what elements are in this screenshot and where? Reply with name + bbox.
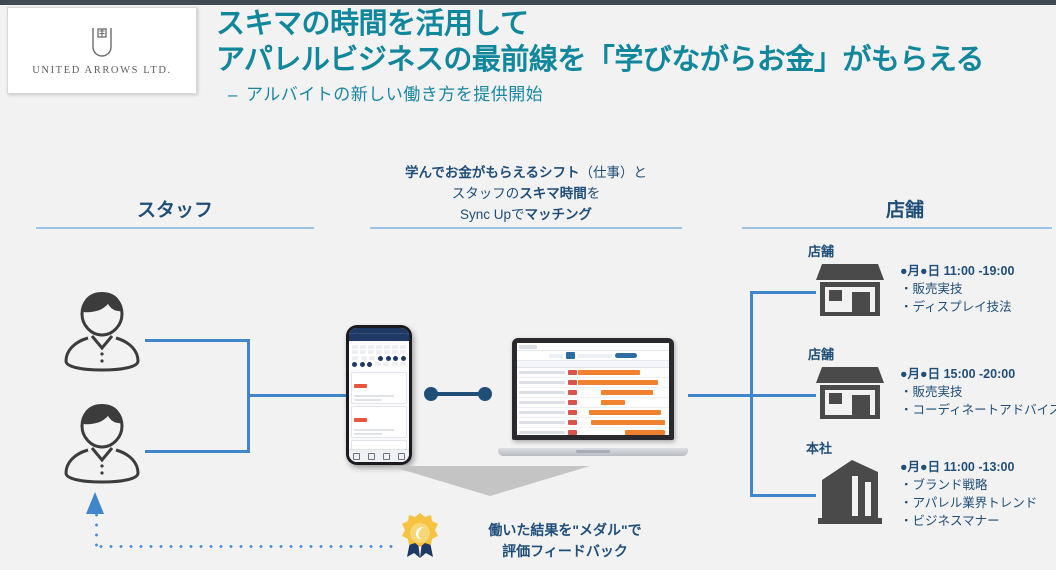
profile-icon[interactable] — [398, 453, 405, 460]
store-time-1: ●月●日 11:00 -19:00 — [900, 262, 1014, 280]
column-header-store: 店舗 — [790, 195, 1020, 222]
calendar-week-row — [352, 356, 406, 361]
schedule-header-row — [517, 360, 669, 368]
store-task: ・ディスプレイ技法 — [900, 298, 1014, 316]
phone-calendar — [349, 341, 409, 370]
calendar-week-row — [352, 362, 406, 367]
connector-store2 — [750, 394, 816, 397]
shop-icon — [812, 361, 888, 425]
calendar-week-row — [352, 350, 406, 354]
laptop-trackpad-notch — [576, 450, 610, 453]
arrow-emblem-icon — [89, 25, 115, 59]
gantt-row — [517, 388, 669, 398]
laptop-mockup[interactable] — [498, 338, 688, 456]
sync-connector-dot-left — [424, 387, 438, 401]
phone-tab-bar[interactable] — [349, 449, 409, 462]
store-task: ・販売実技 — [900, 280, 1014, 298]
center-caption-line1: 学んでお金がもらえるシフト（仕事）と — [366, 163, 686, 184]
feedback-caption: 働いた結果を"メダル"で 評価フィードバック — [470, 520, 660, 562]
bell-icon[interactable] — [383, 453, 390, 460]
subtitle-text: アルバイトの新しい働き方を提供開始 — [246, 85, 543, 104]
column-rule-store — [742, 227, 1052, 229]
search-icon[interactable] — [353, 453, 360, 460]
center-caption: 学んでお金がもらえるシフト（仕事）と スタッフのスキマ時間を Sync Upでマ… — [366, 163, 686, 226]
gantt-row — [517, 368, 669, 378]
medal-award-icon — [398, 512, 442, 560]
gantt-grid — [517, 368, 669, 435]
subtitle-dash: – — [228, 85, 238, 104]
office-building-icon — [812, 456, 888, 528]
sync-connector-dot-right — [478, 387, 492, 401]
gantt-row — [517, 408, 669, 418]
store-details-1: ●月●日 11:00 -19:00 ・販売実技 ・ディスプレイ技法 — [900, 262, 1014, 316]
gantt-row — [517, 398, 669, 408]
gantt-row — [517, 428, 669, 435]
store-time-3: ●月●日 11:00 -13:00 — [900, 458, 1037, 476]
page-title: スキマの時間を活用して アパレルビジネスの最前線を「学びながらお金」がもらえる — [216, 6, 1054, 79]
slide-canvas: UNITED ARROWS LTD. スキマの時間を活用して アパレルビジネスの… — [0, 0, 1056, 570]
connector-store3 — [750, 494, 816, 497]
smartphone-mockup[interactable] — [346, 325, 412, 465]
admin-app-header — [517, 343, 669, 351]
page-title-line2: アパレルビジネスの最前線を「学びながらお金」がもらえる — [216, 42, 1054, 78]
calendar-week-row — [352, 345, 406, 349]
store-task: ・ビジネスマナー — [900, 512, 1037, 530]
store-task: ・販売実技 — [900, 383, 1056, 401]
feedback-line2: 評価フィードバック — [470, 541, 660, 562]
shop-icon — [812, 258, 888, 322]
laptop-lid — [512, 338, 674, 440]
top-accent-bar — [0, 0, 1056, 5]
store-task: ・コーディネートアドバイス — [900, 401, 1056, 419]
feedback-arrow-icon — [86, 492, 104, 514]
laptop-screen — [517, 343, 669, 435]
gantt-row — [517, 418, 669, 428]
phone-screen — [349, 328, 409, 462]
calendar-icon[interactable] — [368, 453, 375, 460]
column-header-staff: スタッフ — [60, 195, 290, 222]
feedback-dotted-riser — [95, 510, 98, 548]
store-time-2: ●月●日 15:00 -20:00 — [900, 365, 1056, 383]
shift-card[interactable] — [351, 372, 407, 404]
gantt-row — [517, 378, 669, 388]
column-rule-center — [370, 227, 682, 229]
primary-action-button[interactable] — [615, 353, 637, 358]
phone-app-nav — [349, 333, 409, 341]
shift-card[interactable] — [351, 406, 407, 438]
center-caption-line2: スタッフのスキマ時間を — [366, 184, 686, 205]
connector-staff-to-phone — [247, 394, 349, 397]
admin-toolbar[interactable] — [517, 351, 669, 360]
feedback-dotted-line — [96, 545, 398, 548]
connector-staff1-horizontal — [145, 339, 250, 342]
feedback-line1: 働いた結果を"メダル"で — [470, 520, 660, 541]
store-task: ・ブランド戦略 — [900, 476, 1037, 494]
page-title-line1: スキマの時間を活用して — [216, 8, 529, 40]
downward-chevron — [390, 466, 590, 498]
center-caption-line3: Sync Upでマッチング — [366, 205, 686, 226]
store-details-3: ●月●日 11:00 -13:00 ・ブランド戦略 ・アパレル業界トレンド ・ビ… — [900, 458, 1037, 531]
connector-staff2-horizontal — [145, 450, 250, 453]
column-rule-staff — [36, 227, 314, 229]
store-label-3: 本社 — [806, 438, 832, 457]
page-subtitle: –アルバイトの新しい働き方を提供開始 — [228, 80, 543, 105]
store-task: ・アパレル業界トレンド — [900, 494, 1037, 512]
store-details-2: ●月●日 15:00 -20:00 ・販売実技 ・コーディネートアドバイス — [900, 365, 1056, 419]
sync-connector-bar — [432, 392, 484, 396]
united-arrows-logo: UNITED ARROWS LTD. — [7, 7, 197, 94]
logo-wordmark: UNITED ARROWS LTD. — [32, 65, 172, 76]
staff-avatar-2 — [58, 400, 146, 486]
connector-store1 — [750, 291, 816, 294]
staff-avatar-1 — [58, 288, 146, 374]
